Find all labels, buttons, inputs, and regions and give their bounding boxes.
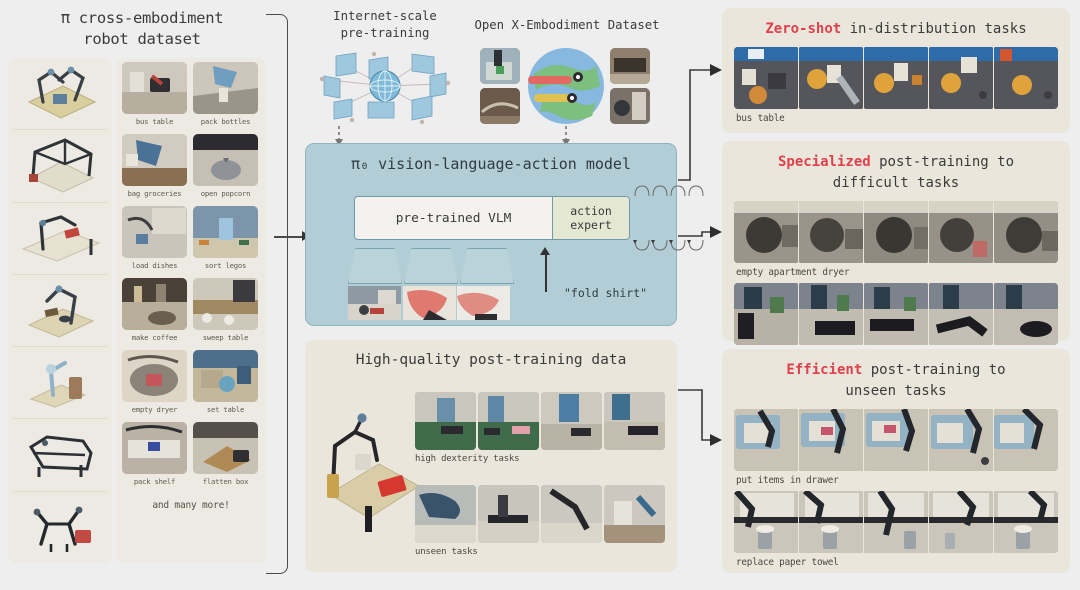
teleoperation-robot-illustration <box>321 402 421 532</box>
image-encoder-trapezoid <box>348 248 402 284</box>
result-row-label: empty apartment dryer <box>722 263 1070 278</box>
task-label: flatten box <box>193 477 258 486</box>
high-dexterity-label: high dexterity tasks <box>415 454 667 464</box>
action-expert-line1: action <box>570 204 612 218</box>
internet-globe-graphic <box>312 46 458 128</box>
task-frame <box>415 485 476 543</box>
high-dexterity-group: high dexterity tasks <box>415 392 667 464</box>
result-frame <box>994 47 1058 109</box>
task-row: load dishes sort legos <box>122 206 260 276</box>
result-frame <box>734 491 798 553</box>
frame-strip <box>722 47 1070 109</box>
panel-title-line2: unseen tasks <box>722 381 1070 402</box>
task-label: pack bottles <box>193 117 258 126</box>
result-frame <box>799 283 863 345</box>
panel-title: Efficient post-training to unseen tasks <box>722 349 1070 402</box>
post-training-data-title: High-quality post-training data <box>305 352 677 368</box>
robot-platform-image <box>13 347 107 419</box>
task-label: sort legos <box>193 261 258 270</box>
task-thumbnail <box>193 134 258 186</box>
task-label: bag groceries <box>122 189 187 198</box>
image-encoder-row <box>348 248 518 286</box>
panel-accent-word: Efficient <box>786 362 862 378</box>
dataset-title-line1: π cross-embodiment <box>18 8 266 29</box>
result-frame <box>929 409 993 471</box>
task-label: open popcorn <box>193 189 258 198</box>
result-frame <box>799 201 863 263</box>
task-label: make coffee <box>122 333 187 342</box>
task-label: bus table <box>122 117 187 126</box>
results-panel-zero-shot: Zero-shot in-distribution tasks bus tabl… <box>722 8 1070 133</box>
result-frame <box>994 491 1058 553</box>
result-frame <box>994 283 1058 345</box>
result-row-label: replace paper towel <box>722 553 1070 568</box>
panel-accent-word: Zero-shot <box>765 21 841 37</box>
task-label: pack shelf <box>122 477 187 486</box>
task-label: set table <box>193 405 258 414</box>
model-architecture-row: pre-trained VLM action expert <box>354 196 630 240</box>
robot-platform-image <box>13 130 107 202</box>
robot-arm-bimanual-icon <box>13 58 107 128</box>
panel-title: Zero-shot in-distribution tasks <box>722 8 1070 40</box>
task-item[interactable]: pack bottles <box>193 62 258 132</box>
result-frame <box>734 201 798 263</box>
image-encoder-trapezoid <box>460 248 514 284</box>
result-frame <box>734 409 798 471</box>
dataset-bracket <box>266 14 288 574</box>
pretrained-vlm-block: pre-trained VLM <box>355 197 552 239</box>
frame-strip <box>722 409 1070 471</box>
task-label: empty dryer <box>122 405 187 414</box>
result-row-label: put items in drawer <box>722 471 1070 486</box>
oxe-thumbnail <box>610 88 650 124</box>
task-thumbnail <box>193 422 258 474</box>
task-frame <box>541 485 602 543</box>
internet-title-line1: Internet-scale <box>310 8 460 25</box>
robot-gantry-frame-icon <box>13 130 107 200</box>
globe-icon <box>526 46 606 126</box>
robot-platform-image <box>13 203 107 275</box>
pi0-model-box: π₀ vision-language-action model pre-trai… <box>305 143 677 326</box>
frame-strip <box>722 201 1070 263</box>
result-frame <box>734 283 798 345</box>
image-encoder-trapezoid <box>404 248 458 284</box>
task-item[interactable]: load dishes <box>122 206 187 276</box>
internet-title-line2: pre-training <box>310 25 460 42</box>
task-item[interactable]: pack shelf <box>122 422 187 492</box>
dataset-title-line2: robot dataset <box>18 29 266 50</box>
internet-pretraining-title: Internet-scale pre-training <box>310 8 460 42</box>
camera-observation-row <box>348 286 510 320</box>
model-title: π₀ vision-language-action model <box>306 155 676 173</box>
result-frame <box>799 47 863 109</box>
result-frame <box>799 491 863 553</box>
task-row: make coffee sweep table <box>122 278 260 348</box>
task-thumbnail <box>122 278 187 330</box>
panel-title-line2: difficult tasks <box>722 173 1070 194</box>
unseen-tasks-label: unseen tasks <box>415 547 667 557</box>
task-label: sweep table <box>193 333 258 342</box>
oxe-thumbnail <box>610 48 650 84</box>
open-x-embodiment-graphic <box>480 46 650 126</box>
result-frame <box>994 201 1058 263</box>
prompt-arrow <box>545 252 547 292</box>
result-frame <box>929 491 993 553</box>
task-thumbnail-grid: bus table pack bottles bag groceries ope… <box>116 58 266 563</box>
and-many-more-label: and many more! <box>122 500 260 511</box>
task-thumbnail <box>193 62 258 114</box>
task-row: pack shelf flatten box <box>122 422 260 492</box>
frame-strip <box>722 491 1070 553</box>
dataset-title: π cross-embodiment robot dataset <box>18 8 266 50</box>
frame-strip <box>722 283 1070 345</box>
result-frame <box>864 47 928 109</box>
camera-image <box>403 286 456 320</box>
task-item[interactable]: sweep table <box>193 278 258 348</box>
robot-dual-arm-mobile-icon <box>13 492 107 562</box>
robot-platform-strip <box>8 58 112 563</box>
task-row: bag groceries open popcorn <box>122 134 260 204</box>
panel-accent-word: Specialized <box>778 154 871 170</box>
task-thumbnail <box>193 278 258 330</box>
result-frame <box>929 283 993 345</box>
result-frame <box>864 491 928 553</box>
task-label: load dishes <box>122 261 187 270</box>
panel-title-rest: post-training to <box>862 362 1005 378</box>
task-item[interactable]: empty dryer <box>122 350 187 420</box>
task-frame <box>604 485 665 543</box>
action-expert-line2: expert <box>570 218 612 232</box>
task-thumbnail <box>122 206 187 258</box>
camera-image <box>457 286 510 320</box>
task-item[interactable]: sort legos <box>193 206 258 276</box>
task-thumbnail <box>122 350 187 402</box>
robot-platform-image <box>13 275 107 347</box>
robot-platform-image <box>13 419 107 491</box>
task-frame <box>415 392 476 450</box>
results-panel-efficient: Efficient post-training to unseen tasks … <box>722 349 1070 573</box>
open-x-embodiment-title: Open X-Embodiment Dataset <box>462 18 672 32</box>
post-training-data-panel: High-quality post-training data high dex… <box>305 340 677 572</box>
panel-title-rest: in-distribution tasks <box>841 21 1026 37</box>
task-frame <box>478 485 539 543</box>
action-expert-block: action expert <box>552 197 629 239</box>
prompt-label: "fold shirt" <box>564 286 647 300</box>
task-row: empty dryer set table <box>122 350 260 420</box>
result-row-label: bus table <box>722 109 1070 124</box>
panel-title-rest: post-training to <box>871 154 1014 170</box>
oxe-thumbnail <box>480 48 520 84</box>
task-thumbnail <box>193 350 258 402</box>
task-thumbnail <box>122 134 187 186</box>
result-frame <box>994 409 1058 471</box>
robot-single-arm-icon <box>13 275 107 345</box>
task-row: bus table pack bottles <box>122 62 260 132</box>
result-frame <box>799 409 863 471</box>
task-thumbnail <box>193 206 258 258</box>
task-item[interactable]: open popcorn <box>193 134 258 204</box>
panel-title: Specialized post-training to difficult t… <box>722 141 1070 194</box>
unseen-tasks-group: unseen tasks <box>415 485 667 557</box>
camera-image <box>348 286 401 320</box>
task-item[interactable]: set table <box>193 350 258 420</box>
task-frame <box>478 392 539 450</box>
task-thumbnail <box>122 62 187 114</box>
oxe-thumbnail <box>480 88 520 124</box>
robot-platform-image <box>13 58 107 130</box>
results-panel-specialized: Specialized post-training to difficult t… <box>722 141 1070 341</box>
result-frame <box>734 47 798 109</box>
task-thumbnail <box>122 422 187 474</box>
robot-table-arm-icon <box>13 203 107 273</box>
result-frame <box>929 201 993 263</box>
frame-strip <box>415 392 667 450</box>
result-frame <box>929 47 993 109</box>
task-item[interactable]: bag groceries <box>122 134 187 204</box>
result-frame <box>864 201 928 263</box>
result-frame <box>864 283 928 345</box>
task-frame <box>541 392 602 450</box>
result-frame <box>864 409 928 471</box>
robot-mobile-arm-icon <box>13 347 107 417</box>
robot-platform-image <box>13 492 107 563</box>
robot-mobile-base-icon <box>13 419 107 489</box>
task-item[interactable]: flatten box <box>193 422 258 492</box>
task-item[interactable]: make coffee <box>122 278 187 348</box>
task-item[interactable]: bus table <box>122 62 187 132</box>
task-frame <box>604 392 665 450</box>
frame-strip <box>415 485 667 543</box>
